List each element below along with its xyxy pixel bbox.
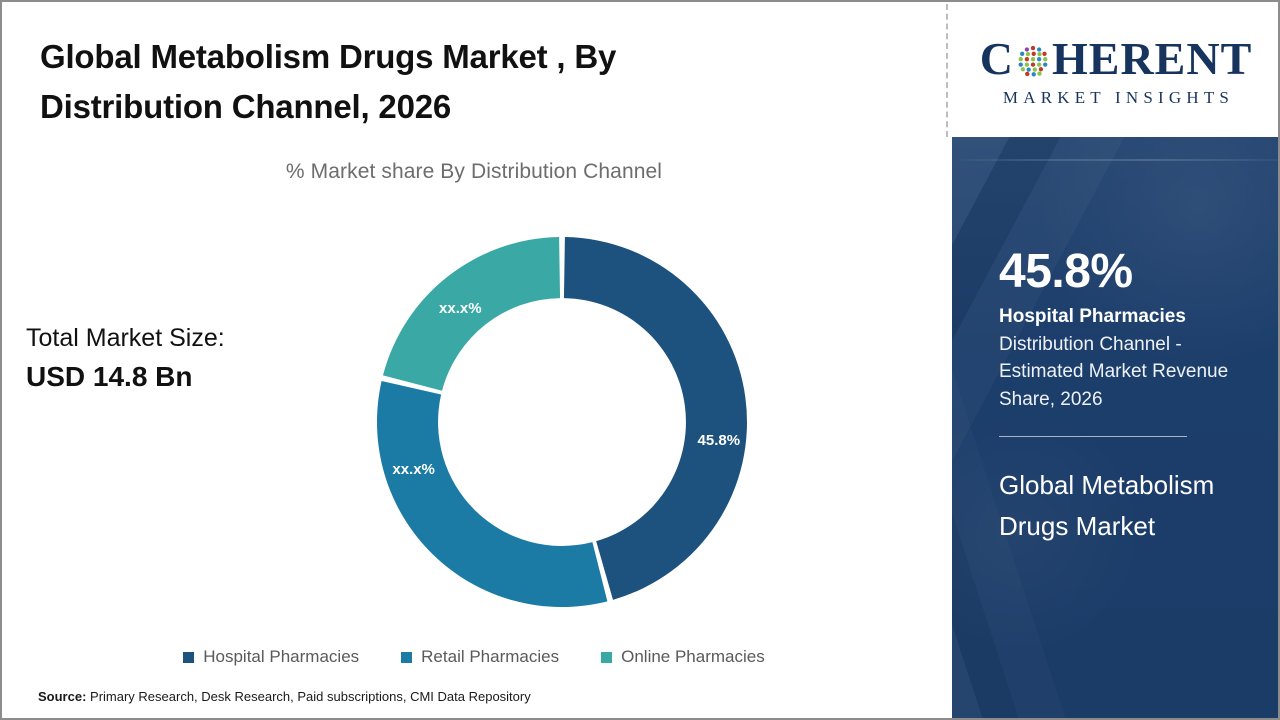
donut-slice-label: xx.x% (392, 461, 435, 478)
globe-dots-icon (1015, 43, 1051, 79)
panel-divider (946, 4, 948, 137)
legend-swatch-icon (401, 652, 412, 663)
legend-item[interactable]: Online Pharmacies (601, 647, 765, 667)
source-note: Source: Primary Research, Desk Research,… (38, 689, 531, 704)
legend-item[interactable]: Hospital Pharmacies (183, 647, 359, 667)
page-title: Global Metabolism Drugs Market , By Dist… (40, 32, 740, 132)
donut-slice (377, 381, 607, 607)
donut-chart: 45.8%xx.x%xx.x% (370, 230, 754, 614)
donut-slice-label: xx.x% (439, 300, 482, 317)
panel-rule-divider (999, 436, 1187, 437)
source-text: Primary Research, Desk Research, Paid su… (86, 689, 530, 704)
stat-description: Distribution Channel - Estimated Market … (999, 331, 1231, 414)
market-size-value: USD 14.8 Bn (26, 358, 326, 396)
chart-legend: Hospital PharmaciesRetail PharmaciesOnli… (2, 647, 946, 667)
source-prefix: Source: (38, 689, 86, 704)
legend-label: Online Pharmacies (621, 647, 765, 667)
donut-chart-svg: 45.8%xx.x%xx.x% (370, 230, 754, 614)
legend-swatch-icon (183, 652, 194, 663)
stat-segment-name: Hospital Pharmacies (999, 303, 1280, 331)
chart-subtitle: % Market share By Distribution Channel (2, 160, 946, 184)
main-content-area: Global Metabolism Drugs Market , By Dist… (2, 2, 946, 718)
logo-letters-herent: HERENT (1052, 36, 1252, 82)
company-logo: C (952, 4, 1280, 137)
legend-label: Retail Pharmacies (421, 647, 559, 667)
panel-brand-title: Global Metabolism Drugs Market (999, 465, 1234, 547)
panel-content: 45.8% Hospital Pharmacies Distribution C… (952, 137, 1280, 547)
donut-slice-label: 45.8% (698, 432, 741, 449)
highlight-panel: 45.8% Hospital Pharmacies Distribution C… (952, 137, 1280, 720)
logo-wordmark: C (980, 33, 1253, 85)
legend-label: Hospital Pharmacies (203, 647, 359, 667)
market-size-label: Total Market Size: (26, 322, 326, 354)
legend-item[interactable]: Retail Pharmacies (401, 647, 559, 667)
infographic-canvas: Global Metabolism Drugs Market , By Dist… (0, 0, 1280, 720)
logo-letter-c: C (980, 36, 1014, 82)
legend-swatch-icon (601, 652, 612, 663)
logo-tagline: MARKET INSIGHTS (998, 88, 1234, 108)
total-market-size-block: Total Market Size: USD 14.8 Bn (26, 322, 326, 396)
stat-percentage: 45.8% (999, 247, 1280, 297)
